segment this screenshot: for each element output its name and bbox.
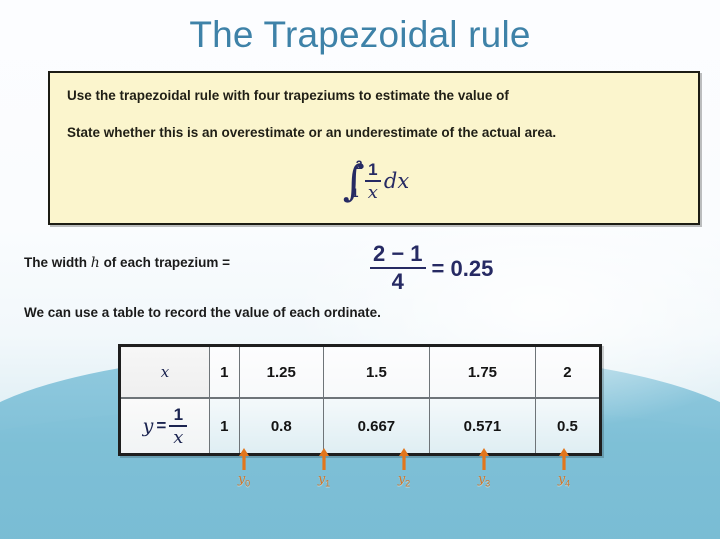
integrand-numerator: 1 (365, 161, 380, 178)
table-row-label-y: y = 1 x (120, 398, 210, 455)
table-cell-x-2: 1.5 (323, 346, 429, 399)
ordinate-sub-0: 0 (245, 479, 250, 489)
integrand-fraction: 1 x (365, 161, 381, 202)
table-cell-x-3: 1.75 (429, 346, 535, 399)
ordinate-label-0: y0 (238, 472, 250, 489)
table-row-label-x: x (120, 346, 210, 399)
table-cell-x-4: 2 (535, 346, 600, 399)
question-line-2: State whether this is an overestimate or… (67, 125, 556, 140)
ordinate-marker-1: y1 (304, 448, 344, 489)
question-box: Use the trapezoidal rule with four trape… (48, 71, 700, 225)
ordinate-label-4: y4 (558, 472, 570, 489)
arrow-up-icon (318, 448, 330, 470)
ordinate-table: x 1 1.25 1.5 1.75 2 y = 1 x 1 (118, 344, 602, 456)
ordinate-arrow-group: y0 y1 y2 y3 y4 (118, 448, 602, 504)
ordinate-label-2: y2 (398, 472, 410, 489)
ordinate-sub-4: 4 (565, 479, 570, 489)
x-variable-label: x (161, 363, 169, 381)
ordinate-label-1: y1 (318, 472, 330, 489)
y-fraction: 1 x (169, 406, 187, 447)
ordinate-sub-3: 3 (485, 479, 490, 489)
table-cell-y-3: 0.571 (429, 398, 535, 455)
integral-expression: ∫21 1 x dx (50, 161, 702, 202)
y-equals-sign: = (156, 416, 166, 436)
integral-upper-limit: 2 (356, 159, 363, 171)
ordinate-marker-3: y3 (464, 448, 504, 489)
table-row-x: x 1 1.25 1.5 1.75 2 (120, 346, 601, 399)
table-cell-y-4: 0.5 (535, 398, 600, 455)
width-h-variable: h (91, 255, 100, 271)
differential-dx: dx (384, 169, 409, 193)
integrand-denominator: x (365, 184, 381, 202)
table-cell-y-1: 0.8 (239, 398, 323, 455)
ordinate-label-3: y3 (478, 472, 490, 489)
h-fraction-denominator: 4 (389, 271, 407, 293)
integral-lower-limit: 1 (352, 187, 359, 199)
table-intro-text: We can use a table to record the value o… (24, 305, 381, 320)
slide-canvas: The Trapezoidal rule Use the trapezoidal… (0, 0, 720, 539)
arrow-up-icon (238, 448, 250, 470)
width-h-statement: The width h of each trapezium = (24, 255, 230, 271)
ordinate-marker-0: y0 (224, 448, 264, 489)
h-result: = 0.25 (432, 256, 494, 282)
width-h-text-after: of each trapezium = (104, 255, 230, 270)
table-cell-y-0: 1 (210, 398, 240, 455)
arrow-up-icon (558, 448, 570, 470)
h-fraction: 2 − 1 4 (370, 243, 426, 293)
slide-title: The Trapezoidal rule (0, 14, 720, 56)
table-row-y: y = 1 x 1 0.8 0.667 0.571 0.5 (120, 398, 601, 455)
arrow-up-icon (398, 448, 410, 470)
y-fraction-denominator: x (170, 429, 186, 447)
width-h-text-before: The width (24, 255, 87, 270)
ordinate-marker-4: y4 (544, 448, 584, 489)
table-cell-x-1: 1.25 (239, 346, 323, 399)
y-equals-one-over-x: y = 1 x (143, 406, 188, 447)
ordinate-sub-1: 1 (325, 479, 330, 489)
table-cell-x-0: 1 (210, 346, 240, 399)
integral-sign: ∫21 (343, 161, 365, 201)
arrow-up-icon (478, 448, 490, 470)
h-fraction-numerator: 2 − 1 (370, 243, 426, 265)
ordinate-sub-2: 2 (405, 479, 410, 489)
y-fraction-numerator: 1 (171, 406, 186, 423)
width-h-formula: 2 − 1 4 = 0.25 (370, 243, 493, 293)
ordinate-marker-2: y2 (384, 448, 424, 489)
table-cell-y-2: 0.667 (323, 398, 429, 455)
question-line-1: Use the trapezoidal rule with four trape… (67, 88, 509, 103)
y-variable-label: y (143, 415, 154, 437)
